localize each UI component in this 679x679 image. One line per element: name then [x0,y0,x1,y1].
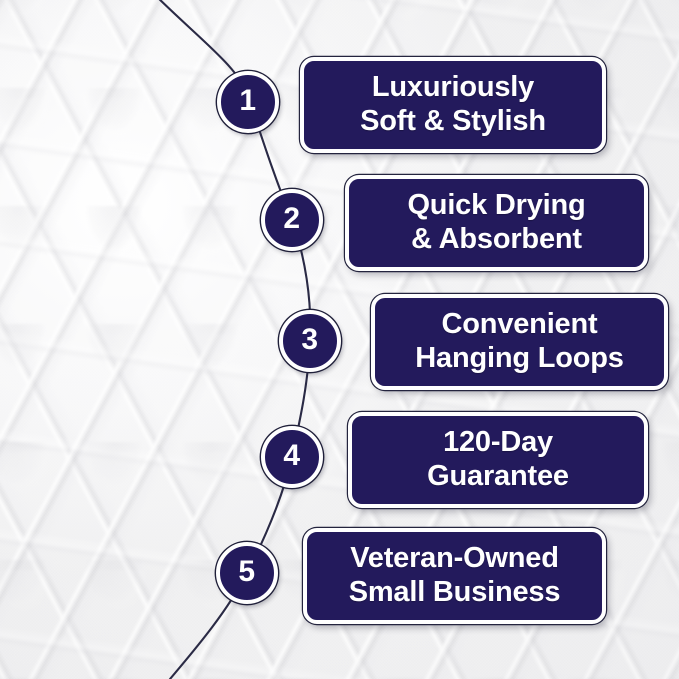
feature-box-2[interactable]: Quick Drying & Absorbent [345,175,648,271]
feature-box-4[interactable]: 120-Day Guarantee [348,412,648,508]
feature-box-3[interactable]: Convenient Hanging Loops [371,294,668,390]
step-circle-5[interactable]: 5 [216,542,278,604]
step-circle-2[interactable]: 2 [261,189,323,251]
step-number-2: 2 [283,204,300,234]
step-circle-3[interactable]: 3 [279,310,341,372]
feature-label-3: Convenient Hanging Loops [415,308,623,375]
step-number-1: 1 [239,86,256,116]
feature-box-5[interactable]: Veteran-Owned Small Business [303,528,606,624]
step-number-5: 5 [238,557,255,587]
feature-label-2: Quick Drying & Absorbent [407,189,585,256]
feature-box-1[interactable]: Luxuriously Soft & Stylish [300,57,606,153]
feature-label-4: 120-Day Guarantee [427,426,569,493]
step-circle-4[interactable]: 4 [261,426,323,488]
infographic-canvas: 1 Luxuriously Soft & Stylish 2 Quick Dry… [0,0,679,679]
step-number-4: 4 [283,441,300,471]
feature-label-5: Veteran-Owned Small Business [349,542,561,609]
step-circle-1[interactable]: 1 [217,71,279,133]
step-number-3: 3 [301,325,318,355]
feature-label-1: Luxuriously Soft & Stylish [360,71,546,138]
